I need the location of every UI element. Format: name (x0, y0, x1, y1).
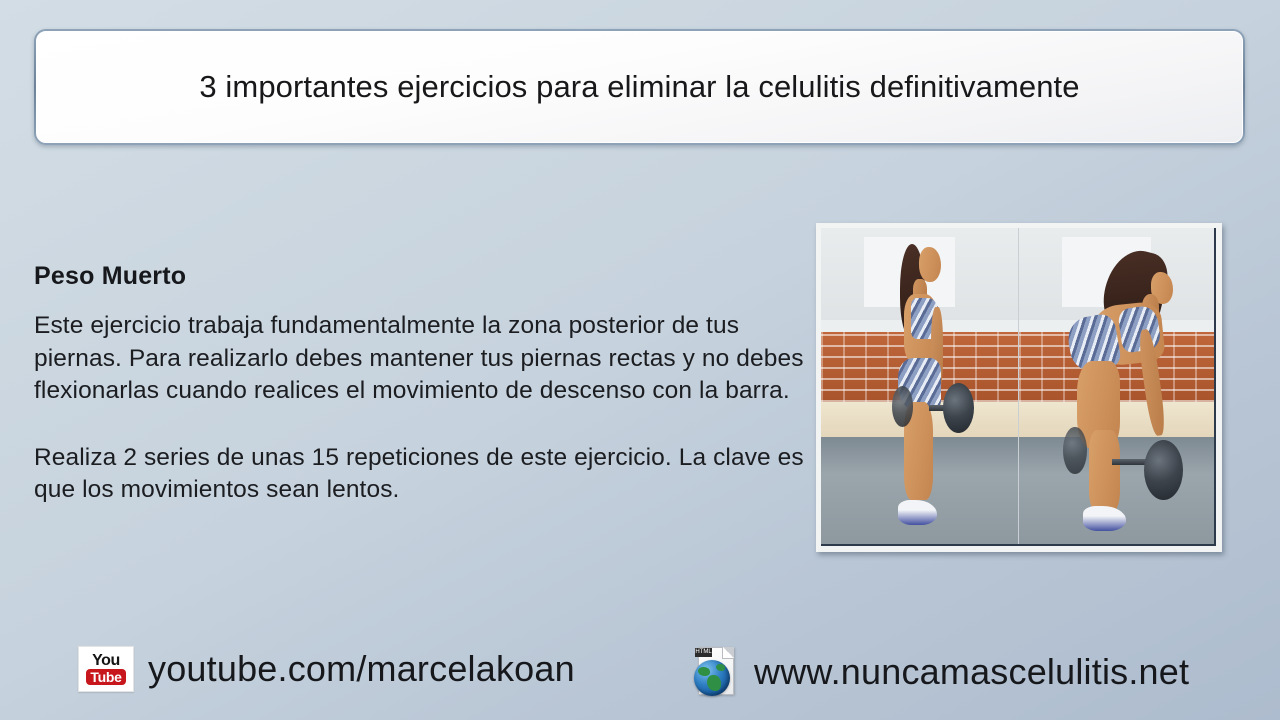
athlete-head (919, 247, 941, 282)
page-title: 3 importantes ejercicios para eliminar l… (199, 69, 1079, 105)
youtube-channel-link[interactable]: You Tube youtube.com/marcelakoan (78, 646, 575, 692)
html-tag-label: HTML (695, 648, 712, 657)
exercise-sets-paragraph: Realiza 2 series de unas 15 repeticiones… (34, 442, 814, 507)
photo-panel-start-position (821, 228, 1018, 544)
athlete-calf (1089, 430, 1120, 512)
title-banner-inner: 3 importantes ejercicios para eliminar l… (36, 31, 1243, 143)
youtube-channel-label: youtube.com/marcelakoan (148, 648, 575, 690)
youtube-icon-top-text: You (92, 653, 120, 668)
youtube-icon-bottom-text: Tube (86, 669, 125, 685)
photo-panel-bottom-position (1018, 228, 1215, 544)
globe-icon (694, 660, 730, 696)
youtube-icon: You Tube (78, 646, 134, 692)
exercise-description-paragraph: Este ejercicio trabaja fundamentalmente … (34, 310, 814, 408)
html-document-globe-icon: HTML (694, 646, 742, 698)
title-banner: 3 importantes ejercicios para eliminar l… (34, 29, 1245, 145)
exercise-heading: Peso Muerto (34, 262, 814, 291)
website-url-label: www.nuncamascelulitis.net (754, 651, 1189, 693)
website-link[interactable]: HTML www.nuncamascelulitis.net (694, 646, 1189, 698)
barbell-plate-far (1063, 427, 1086, 474)
article-content: Peso Muerto Este ejercicio trabaja funda… (34, 262, 814, 507)
athlete-shoes (898, 500, 937, 525)
athlete-shoes (1083, 506, 1126, 531)
barbell-plate (1144, 440, 1183, 500)
deadlift-demonstration-photo (816, 223, 1222, 552)
photo-image (821, 228, 1216, 546)
